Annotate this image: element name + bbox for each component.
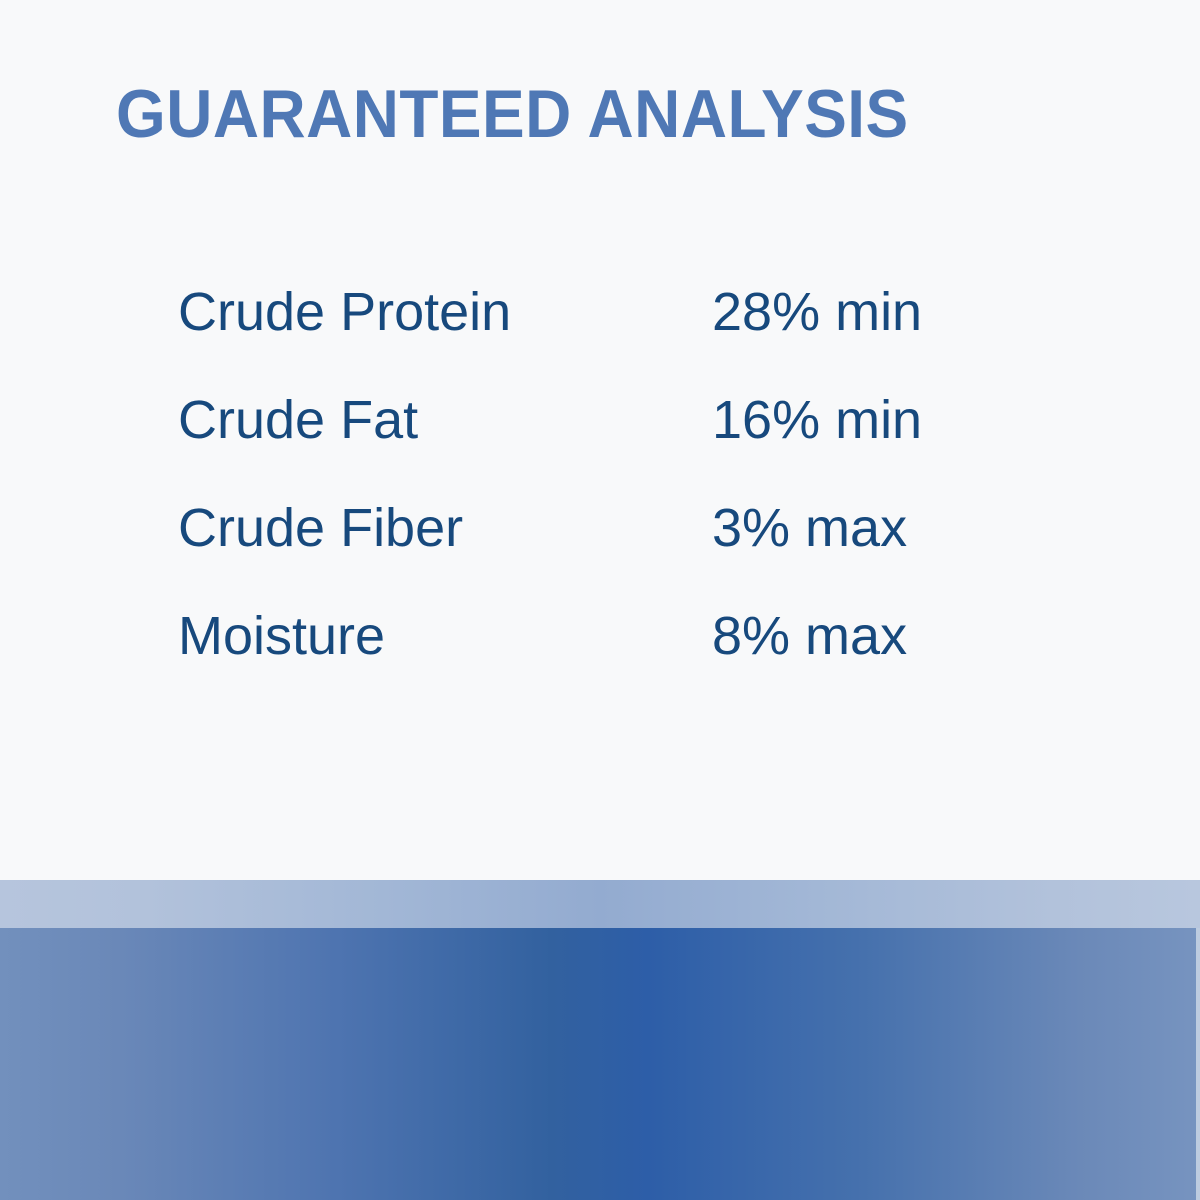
nutrient-value-crude-fat: 16% min [712,366,1038,474]
table-row: Crude Protein 28% min [178,258,1038,366]
table-row: Crude Fiber 3% max [178,474,1038,582]
nutrient-value-moisture: 8% max [712,582,1038,690]
decorative-band-right-edge [1196,928,1200,1200]
nutrient-value-crude-protein: 28% min [712,258,1038,366]
table-row: Crude Fat 16% min [178,366,1038,474]
guaranteed-analysis-panel: GUARANTEED ANALYSIS Crude Protein 28% mi… [0,0,1200,1200]
nutrient-value-crude-fiber: 3% max [712,474,1038,582]
page-title: GUARANTEED ANALYSIS [116,80,909,148]
nutrient-label-crude-fiber: Crude Fiber [178,474,712,582]
nutrient-label-crude-protein: Crude Protein [178,258,712,366]
decorative-band-dark [0,928,1200,1200]
guaranteed-analysis-table: Crude Protein 28% min Crude Fat 16% min … [178,258,1038,690]
decorative-band-light [0,880,1200,928]
nutrient-rows: Crude Protein 28% min Crude Fat 16% min … [178,258,1038,690]
table-row: Moisture 8% max [178,582,1038,690]
nutrient-label-moisture: Moisture [178,582,712,690]
nutrient-label-crude-fat: Crude Fat [178,366,712,474]
